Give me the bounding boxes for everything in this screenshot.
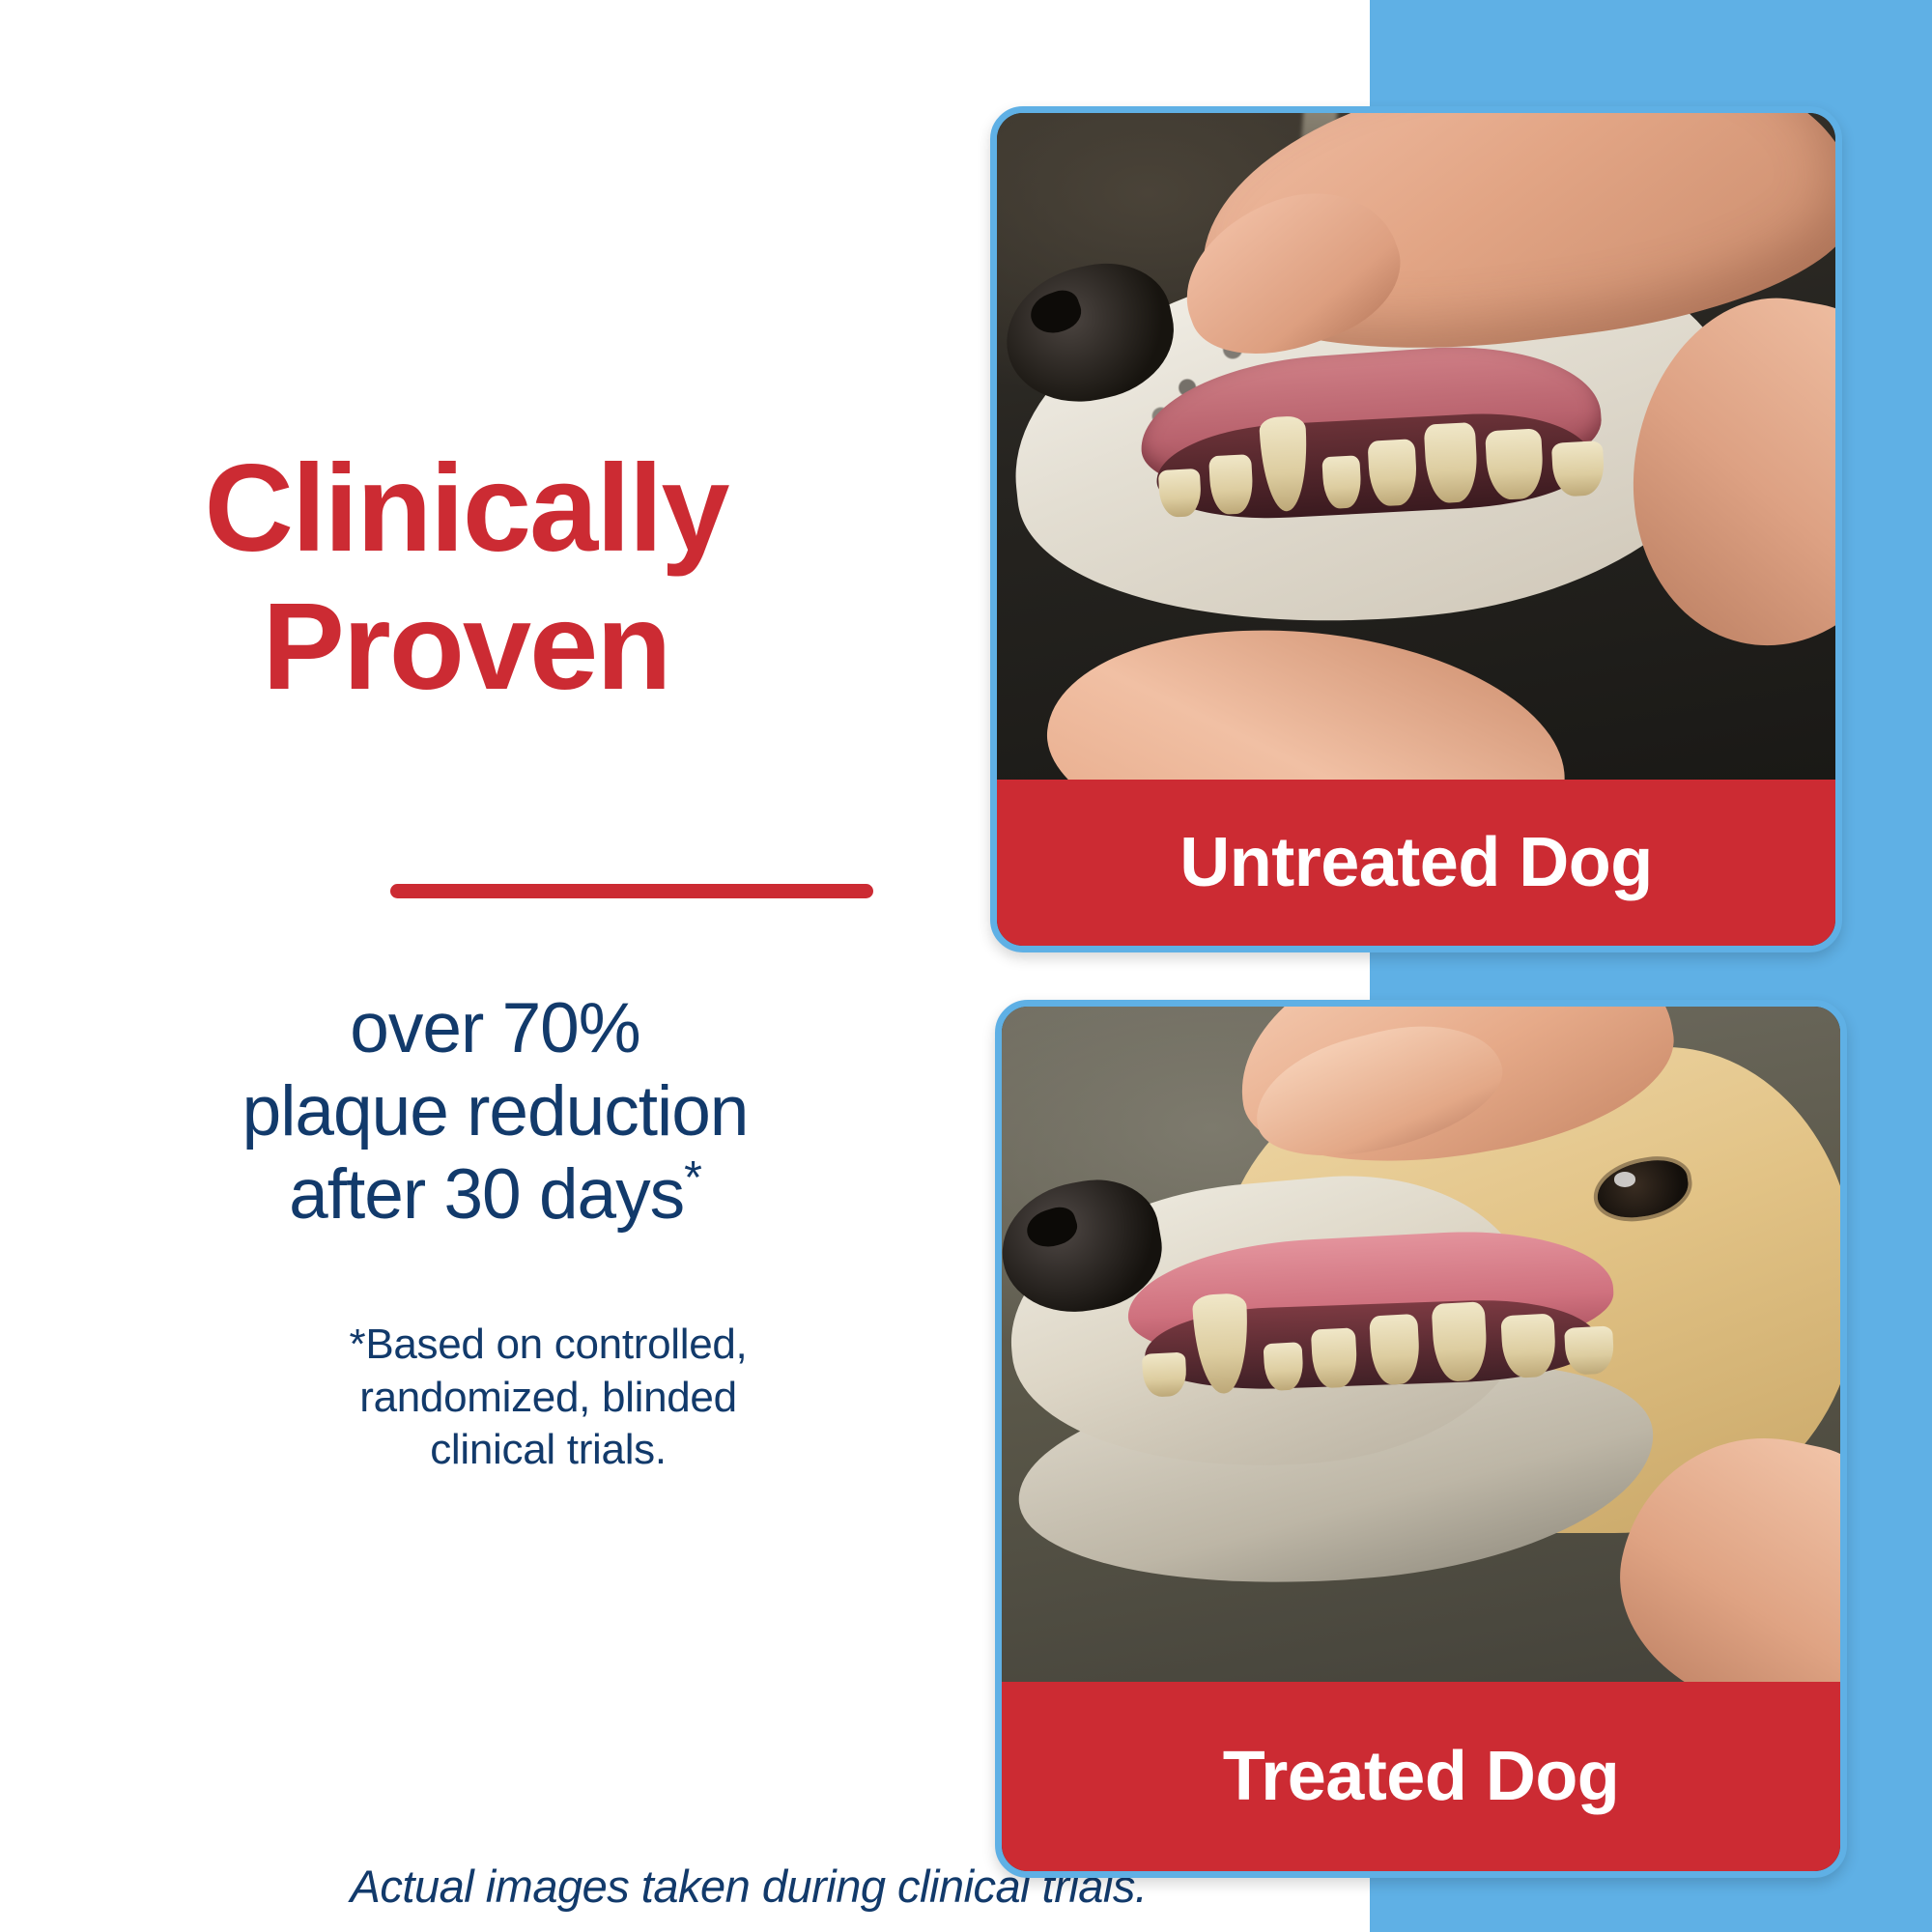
card-caption-untreated: Untreated Dog — [997, 780, 1835, 946]
page-title-line-2: Proven — [58, 578, 874, 716]
tooth — [1263, 1341, 1304, 1390]
tooth — [1142, 1351, 1188, 1397]
photo-untreated-scene — [997, 113, 1835, 780]
tooth — [1485, 428, 1545, 501]
tooth — [1564, 1325, 1615, 1376]
stat-line-3-text: after 30 days — [289, 1155, 684, 1234]
poster-canvas: Clinically Proven over 70% plaque reduct… — [0, 0, 1932, 1932]
photo-untreated-dog — [997, 113, 1835, 780]
stat-asterisk: * — [684, 1152, 701, 1205]
tooth — [1209, 454, 1255, 515]
tooth — [1368, 439, 1418, 506]
dog-eye-highlight — [1614, 1172, 1636, 1186]
tooth — [1321, 455, 1362, 509]
page-title: Clinically Proven — [58, 440, 874, 717]
tooth — [1432, 1301, 1490, 1381]
stat-line-1: over 70% — [116, 987, 874, 1070]
photo-card-treated: Treated Dog — [995, 1000, 1847, 1878]
tooth — [1311, 1327, 1357, 1388]
tooth — [1369, 1314, 1421, 1385]
photo-treated-scene — [1002, 1007, 1840, 1682]
footnote-line-2: randomized, blinded — [222, 1372, 874, 1425]
stat-claim: over 70% plaque reduction after 30 days* — [116, 987, 874, 1236]
tooth-canine — [1192, 1293, 1251, 1395]
footnote-line-1: *Based on controlled, — [222, 1319, 874, 1372]
dog-teeth-row — [1145, 381, 1620, 519]
card-caption-treated: Treated Dog — [1002, 1682, 1840, 1871]
tooth — [1158, 469, 1203, 518]
footnote-line-3: clinical trials. — [222, 1424, 874, 1477]
tooth — [1500, 1313, 1557, 1378]
title-divider-rule — [390, 884, 873, 898]
tooth-canine — [1259, 415, 1311, 513]
photo-treated-dog — [1002, 1007, 1840, 1682]
stat-line-3: after 30 days* — [116, 1153, 874, 1236]
stat-line-2: plaque reduction — [116, 1070, 874, 1153]
tooth — [1551, 440, 1605, 497]
photo-card-untreated: Untreated Dog — [990, 106, 1842, 952]
footnote-disclaimer: *Based on controlled, randomized, blinde… — [222, 1319, 874, 1477]
page-title-line-1: Clinically — [58, 440, 874, 578]
tooth — [1424, 422, 1480, 504]
